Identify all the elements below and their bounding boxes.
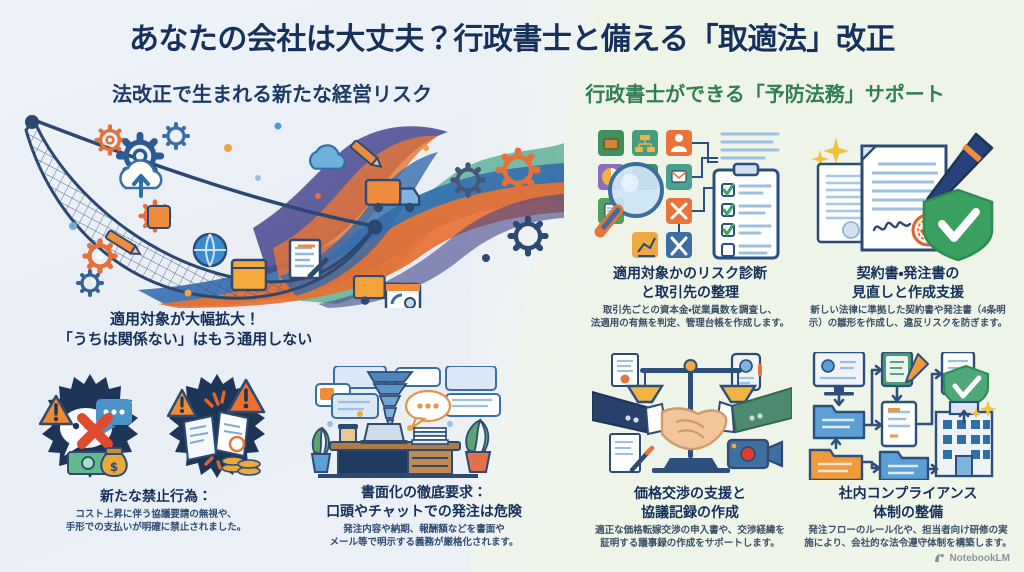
money-bag-icon: $ — [101, 448, 126, 476]
notebooklm-logo-icon — [934, 553, 945, 564]
documentation-head-line1: 書面化の徹底要求： — [288, 483, 560, 502]
compliance-system-caption: 社内コンプライアンス 体制の整備 発注フローのルール化や、担当者向け研修の実 施… — [796, 484, 1020, 550]
net-swirl-svg — [18, 108, 564, 308]
text-lines — [722, 134, 778, 158]
compliance-system-head-line1: 社内コンプライアンス — [796, 484, 1020, 503]
documentation-body-line2: メール等で明示する義務が厳格化されます。 — [288, 537, 560, 550]
risk-diagnosis-body-line2: 法適用の有無を判定、管理台帳を作成します。 — [578, 318, 802, 331]
clipboard-checklist-icon — [714, 164, 778, 258]
folder-icon — [810, 450, 862, 480]
net-and-swirl-illustration — [18, 108, 564, 308]
documentation-caption: 書面化の徹底要求： 口頭やチャットでの発注は危険 発注内容や納期、報酬額などを書… — [288, 483, 560, 549]
mail-icon — [672, 171, 686, 182]
price-negotiation-caption: 価格交渉の支援と 協議記録の作成 適正な価格転嫁交渉の申入書や、交渉経緯を 証明… — [578, 484, 802, 550]
coin-stack-icon — [222, 457, 260, 475]
monitor-user-icon — [814, 352, 864, 396]
document-with-pen-icon — [610, 434, 652, 472]
risk-diagnosis-svg — [592, 128, 792, 262]
risk-net-caption-line1: 適用対象が大幅拡大！ — [30, 310, 340, 330]
compliance-system-body-line2: 施により、会社的な法令遵守体制を構築します。 — [796, 538, 1020, 551]
left-section-heading: 法改正で生まれる新たな経営リスク — [22, 78, 522, 107]
compliance-system-head-line2: 体制の整備 — [796, 503, 1020, 522]
contract-review-head-line2: 見直しと作成支援 — [796, 283, 1020, 302]
risk-net-caption-line2: 「うちは関係ない」はもう通用しない — [30, 330, 340, 350]
compliance-system-svg — [806, 352, 1006, 480]
notebooklm-watermark: NotebookLM — [934, 553, 1010, 564]
contract-review-svg — [806, 128, 1006, 262]
laptop-icon — [360, 424, 408, 444]
contract-review-head-line1: 契約書・発注書の — [796, 264, 1020, 283]
shield-check-icon — [924, 190, 992, 260]
price-negotiation-head-line1: 価格交渉の支援と — [578, 484, 802, 503]
prohibited-acts-head: 新たな禁止行為： — [20, 487, 292, 506]
document-with-pen-icon — [290, 240, 326, 278]
office-desk-icon — [318, 442, 478, 478]
price-negotiation-head-line2: 協議記録の作成 — [578, 503, 802, 522]
browser-window-icon — [386, 284, 420, 308]
risk-diagnosis-head-line1: 適用対象かのリスク診断 — [578, 264, 802, 283]
document-icon — [612, 354, 638, 386]
price-negotiation-body-line2: 証明する議事録の作成をサポートします。 — [578, 538, 802, 551]
cloud-icon — [310, 145, 345, 168]
document-icon — [882, 402, 916, 446]
desk-tornado-svg — [300, 366, 530, 478]
documentation-body-line1: 発注内容や納期、報酬額などを書面や — [288, 524, 560, 537]
notebook-pencil-icon — [882, 352, 928, 386]
document-stack-icon — [412, 428, 448, 444]
potted-plant-icon — [312, 428, 330, 472]
prohibited-acts-caption: 新たな禁止行為： コスト上昇に伴う協議要請の無視や、 手形での支払いが明確に禁止… — [20, 487, 292, 535]
price-negotiation-body-line1: 適正な価格転嫁交渉の申入書や、交渉経緯を — [578, 525, 802, 538]
prohibited-acts-body-line1: コスト上昇に伴う協議要請の無視や、 — [20, 509, 292, 522]
documentation-head-line2: 口頭やチャットでの発注は危険 — [288, 502, 560, 521]
document-shield-icon — [942, 352, 988, 408]
folder-icon — [814, 406, 864, 438]
contract-review-body-line2: 示）の雛形を作成し、違反リスクを防ぎます。 — [796, 318, 1020, 331]
page-title: あなたの会社は大丈夫？行政書士と備える「取適法」改正 — [0, 14, 1024, 58]
prohibited-acts-svg: $ — [34, 372, 284, 484]
infographic-poster: あなたの会社は大丈夫？行政書士と備える「取適法」改正 法改正で生まれる新たな経営… — [0, 0, 1024, 572]
prohibited-acts-body-line2: 手形での支払いが明確に禁止されました。 — [20, 522, 292, 535]
coffee-cup-icon — [338, 424, 358, 442]
risk-net-caption: 適用対象が大幅拡大！ 「うちは関係ない」はもう通用しない — [30, 310, 340, 351]
watermark-label: NotebookLM — [949, 553, 1010, 564]
compliance-system-illustration — [806, 352, 1006, 480]
price-negotiation-illustration — [592, 352, 792, 480]
compliance-system-body-line1: 発注フローのルール化や、担当者向け研修の実 — [796, 525, 1020, 538]
contract-review-body-line1: 新しい法律に準拠した契約書や発注書（4条明 — [796, 305, 1020, 318]
folder-icon — [880, 452, 928, 480]
price-negotiation-svg — [592, 352, 792, 480]
contract-review-caption: 契約書・発注書の 見直しと作成支援 新しい法律に準拠した契約書や発注書（4条明 … — [796, 264, 1020, 330]
svg-text:$: $ — [110, 460, 118, 474]
risk-diagnosis-body-line1: 取引先ごとの資本金・従業員数を調査し、 — [578, 305, 802, 318]
risk-diagnosis-illustration — [592, 128, 792, 262]
documentation-illustration — [300, 366, 530, 478]
potted-plant-icon — [466, 420, 490, 472]
video-camera-icon — [728, 440, 782, 468]
risk-diagnosis-head-line2: と取引先の整理 — [578, 283, 802, 302]
right-section-heading: 行政書士ができる「予防法務」サポート — [520, 78, 1010, 107]
prohibited-acts-illustration: $ — [34, 372, 284, 484]
risk-diagnosis-caption: 適用対象かのリスク診断 と取引先の整理 取引先ごとの資本金・従業員数を調査し、 … — [578, 264, 802, 330]
contract-review-illustration — [806, 128, 1006, 262]
